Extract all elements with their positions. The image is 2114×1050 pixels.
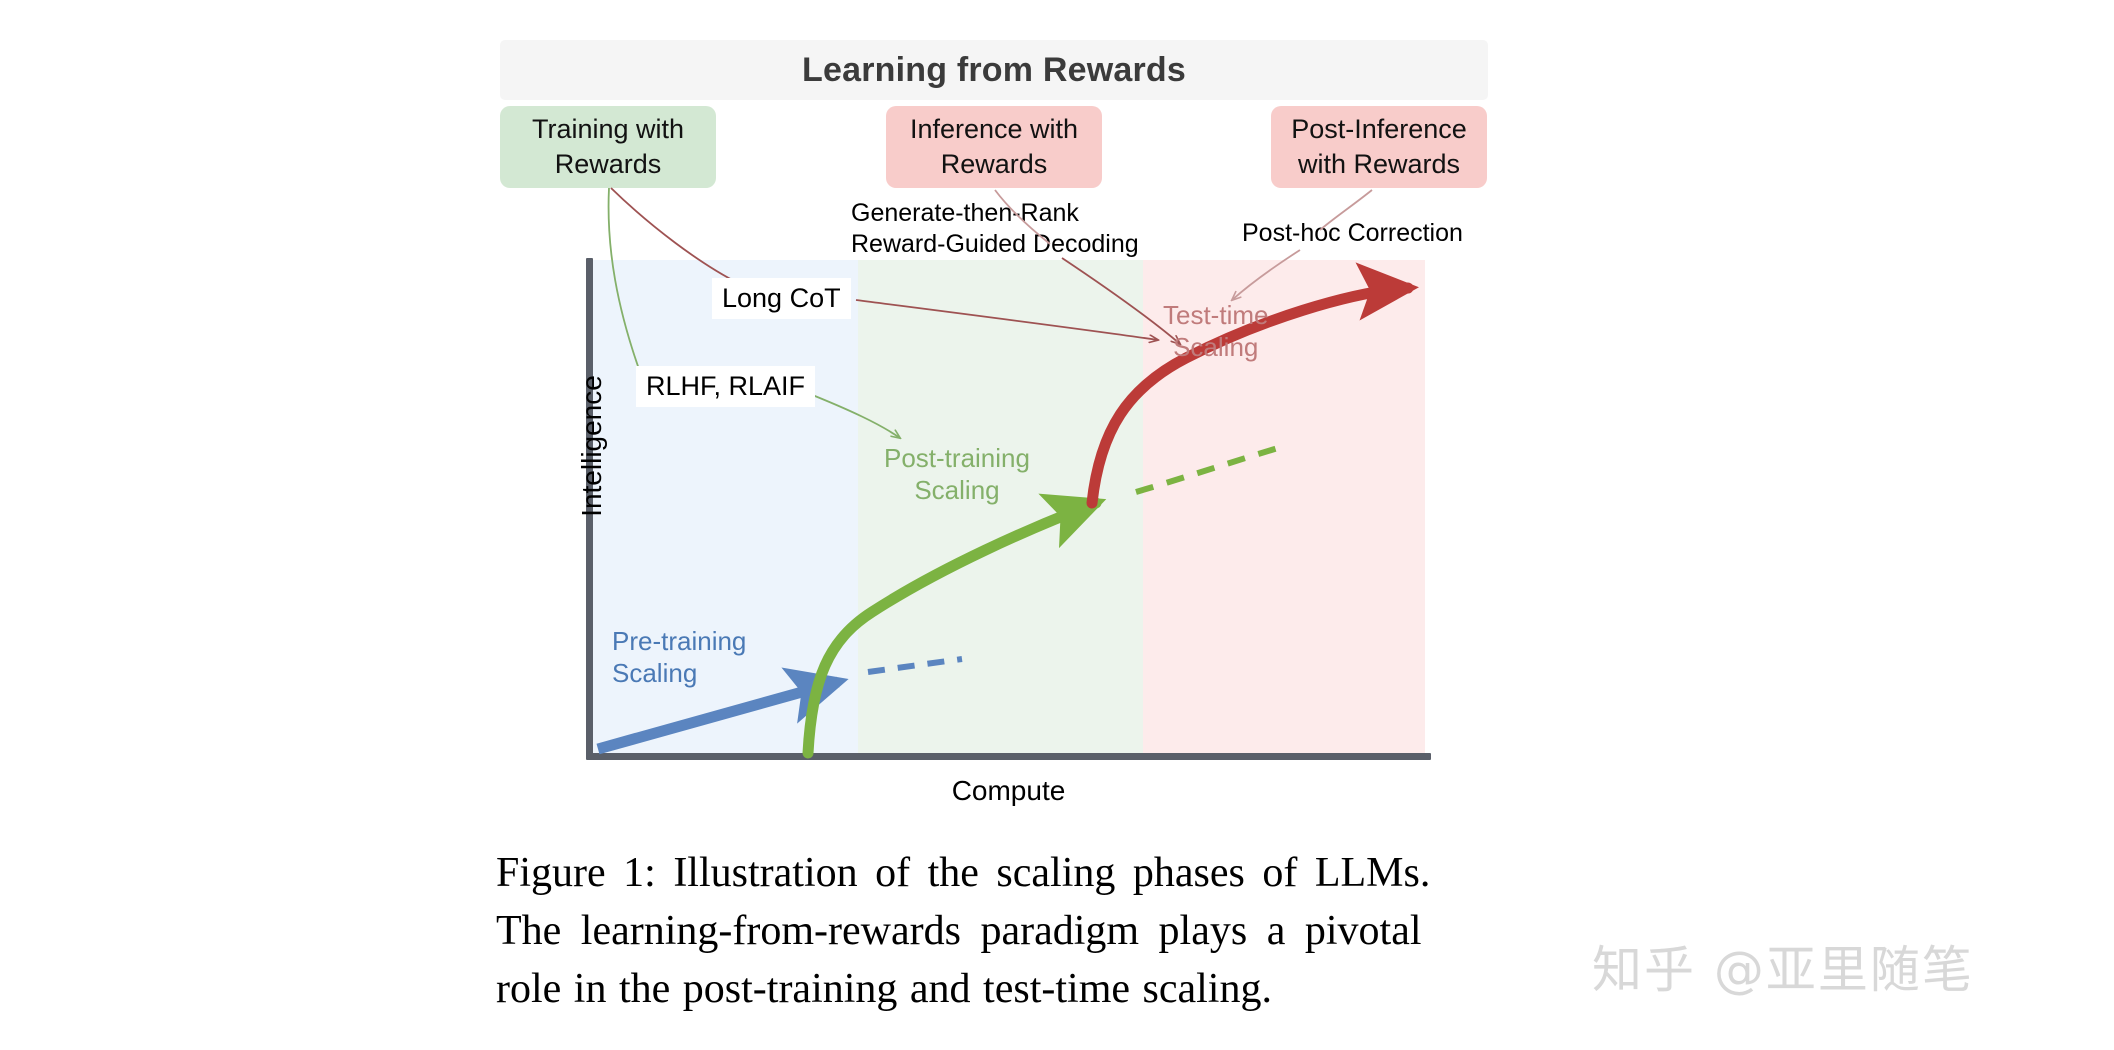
- category-box-inference-with-rewards[interactable]: Inference with Rewards: [886, 106, 1102, 188]
- postinference-label-line2: with Rewards: [1291, 147, 1467, 182]
- figure-caption: Figure 1: Illustration of the scaling ph…: [496, 845, 1500, 1019]
- posttraining-label-line1: Post-training: [884, 443, 1030, 475]
- pretraining-label-line1: Pre-training: [612, 626, 746, 658]
- x-axis-line: [586, 753, 1431, 760]
- category-box-post-inference-label: Post-Inference with Rewards: [1291, 112, 1467, 181]
- category-box-post-inference-with-rewards[interactable]: Post-Inference with Rewards: [1271, 106, 1487, 188]
- postinference-label-line1: Post-Inference: [1291, 112, 1467, 147]
- x-axis-label: Compute: [592, 775, 1425, 807]
- testtime-label-line1: Test-time: [1163, 300, 1268, 332]
- caption-line-3: role in the post-training and test-time …: [496, 961, 1500, 1019]
- phase-label-pre-training-scaling: Pre-training Scaling: [612, 626, 746, 689]
- training-label-line2: Rewards: [532, 147, 684, 182]
- annotation-reward-guided-decoding: Reward-Guided Decoding: [851, 229, 1139, 260]
- category-box-training-label: Training with Rewards: [532, 112, 684, 181]
- callout-rlhf-rlaif: RLHF, RLAIF: [636, 366, 815, 407]
- inference-label-line2: Rewards: [910, 147, 1078, 182]
- category-box-training-with-rewards[interactable]: Training with Rewards: [500, 106, 716, 188]
- caption-line-2: The learning-from-rewards paradigm plays…: [496, 903, 1500, 961]
- watermark: 知乎 @亚里随笔: [1592, 930, 1974, 1002]
- phase-label-post-training-scaling: Post-training Scaling: [884, 443, 1030, 506]
- header-banner: Learning from Rewards: [500, 40, 1488, 100]
- caption-line-1: Figure 1: Illustration of the scaling ph…: [496, 845, 1500, 903]
- category-box-inference-label: Inference with Rewards: [910, 112, 1078, 181]
- inference-label-line1: Inference with: [910, 112, 1078, 147]
- testtime-label-line2: Scaling: [1163, 332, 1268, 364]
- region-post-training-scaling: [858, 260, 1143, 757]
- callout-long-cot: Long CoT: [712, 278, 851, 319]
- y-axis-label: Intelligence: [576, 346, 608, 546]
- training-label-line1: Training with: [532, 112, 684, 147]
- page-title: Learning from Rewards: [500, 40, 1488, 100]
- annotation-generate-then-rank: Generate-then-Rank: [851, 198, 1139, 229]
- phase-label-test-time-scaling: Test-time Scaling: [1163, 300, 1268, 363]
- pretraining-label-line2: Scaling: [612, 658, 746, 690]
- figure-container: Learning from Rewards Training with Rewa…: [0, 0, 2114, 1050]
- annotation-post-hoc-correction: Post-hoc Correction: [1242, 218, 1463, 249]
- annotation-inference-methods: Generate-then-Rank Reward-Guided Decodin…: [851, 198, 1139, 259]
- posttraining-label-line2: Scaling: [884, 475, 1030, 507]
